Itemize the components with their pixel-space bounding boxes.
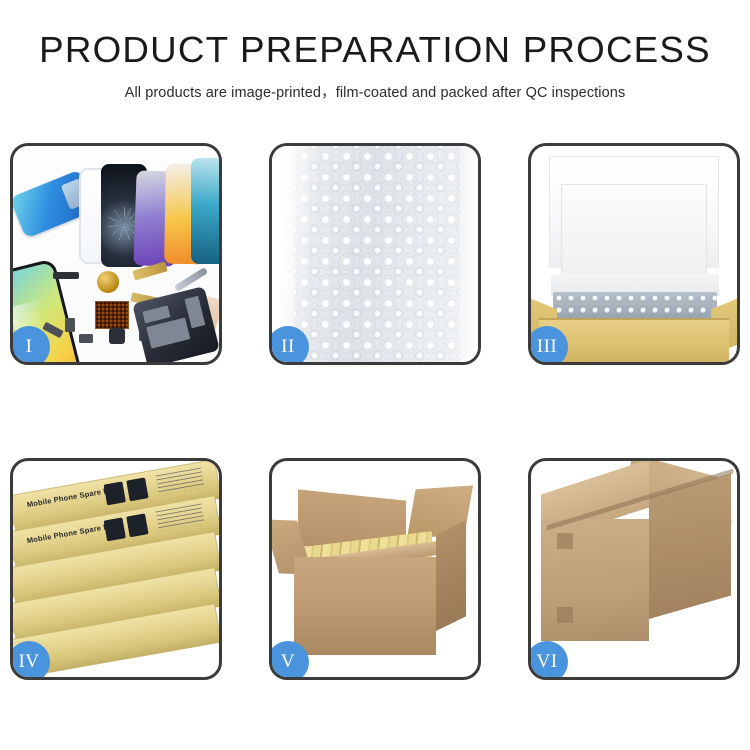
step-panel-3: III <box>528 143 740 365</box>
photo-bubble-wrap <box>272 146 478 362</box>
step-panel-4: Mobile Phone Spare Parts Mobile Phone Sp… <box>10 458 222 680</box>
photo-sealed-carton <box>531 461 737 677</box>
bubble-wrap-sheet <box>294 146 466 362</box>
step-panel-5: V <box>269 458 481 680</box>
box-lid-inner <box>561 184 707 276</box>
box-product-image-2 <box>126 477 148 501</box>
step-panel-2: II <box>269 143 481 365</box>
carton-tape-mark-bottom <box>557 607 573 623</box>
photo-stacked-retail-boxes: Mobile Phone Spare Parts Mobile Phone Sp… <box>13 461 219 677</box>
step-badge-4: IV <box>10 641 50 680</box>
box-product-image-2 <box>126 513 148 537</box>
step-badge-6: VI <box>528 641 568 680</box>
phone-screen-teal <box>191 158 219 264</box>
step-panel-6: VI <box>528 458 740 680</box>
step-badge-2: II <box>269 326 309 365</box>
box-front-panel <box>539 318 729 362</box>
step-badge-1: I <box>10 326 50 365</box>
page-title: PRODUCT PREPARATION PROCESS <box>0 30 750 70</box>
box-product-image-1 <box>104 517 126 541</box>
page-subtitle: All products are image-printed，film-coat… <box>0 81 750 102</box>
speaker-part-icon <box>97 271 119 293</box>
carton-front-panel <box>294 557 436 655</box>
photo-open-inner-box <box>531 146 737 362</box>
process-steps-grid: I II III <box>10 143 740 710</box>
earpiece-part <box>53 272 79 279</box>
step-badge-5: V <box>269 641 309 680</box>
photo-phone-screens-and-parts <box>13 146 219 362</box>
step-panel-1: I <box>10 143 222 365</box>
product-preparation-infographic: PRODUCT PREPARATION PROCESS All products… <box>0 0 750 750</box>
header: PRODUCT PREPARATION PROCESS All products… <box>0 0 750 102</box>
camera-module-part <box>109 328 125 344</box>
carton-side-panel <box>436 520 466 631</box>
box-product-image-1 <box>104 481 126 505</box>
photo-open-carton-with-boxes <box>272 461 478 677</box>
step-badge-3: III <box>528 326 568 365</box>
carton-tape-mark-top <box>557 533 573 549</box>
connector-grid-part <box>95 301 129 329</box>
